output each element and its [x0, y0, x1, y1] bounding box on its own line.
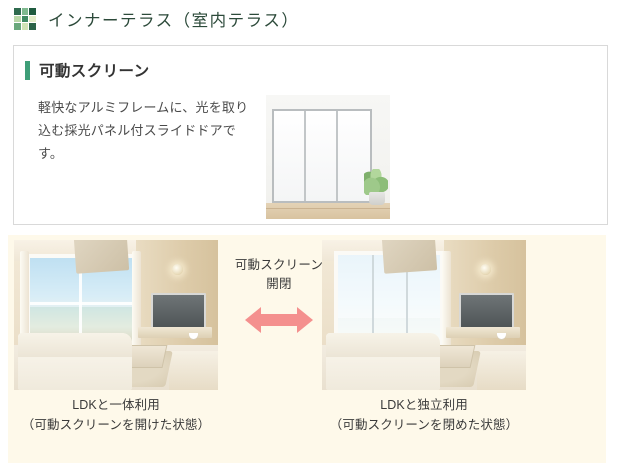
double-arrow-horizontal-icon	[243, 303, 315, 337]
photo-plant-pot	[369, 192, 385, 205]
room-image-closed	[322, 240, 526, 390]
center-label: 可動スクリーン 開閉	[220, 256, 338, 295]
room-tv	[459, 293, 514, 329]
room-illustration-open	[14, 240, 218, 390]
caption-closed: LDKと独立利用 （可動スクリーンを閉めた状態）	[296, 395, 552, 435]
room-sideboard	[477, 351, 526, 390]
room-cushion	[74, 240, 129, 273]
caption-closed-line2: （可動スクリーンを閉めた状態）	[296, 415, 552, 435]
room-sofa-back	[326, 333, 440, 357]
photo-screen-frame	[272, 109, 372, 203]
room-tv-stand	[446, 327, 519, 338]
panel-heading: 可動スクリーン	[25, 59, 607, 81]
room-window-mullion	[30, 302, 132, 305]
room-illustration-closed	[322, 240, 526, 390]
room-sofa	[18, 333, 132, 390]
room-image-open	[14, 240, 218, 390]
panel-heading-label: 可動スクリーン	[39, 59, 150, 81]
room-sideboard	[169, 351, 218, 390]
arrow-container	[226, 303, 332, 337]
page-title: インナーテラス（室内テラス）	[48, 7, 299, 31]
caption-open-line2: （可動スクリーンを開けた状態）	[0, 415, 244, 435]
feature-panel: 可動スクリーン 軽快なアルミフレームに、光を取り込む採光パネル付スライドドアです…	[13, 45, 608, 225]
room-tv-stand	[138, 327, 211, 338]
photo-floor	[266, 203, 390, 219]
grid-squares-icon	[14, 8, 36, 30]
product-photo	[266, 95, 390, 219]
center-label-line2: 開閉	[220, 275, 338, 294]
page-header: インナーテラス（室内テラス）	[0, 0, 640, 38]
photo-screen-panel	[306, 111, 338, 201]
panel-description: 軽快なアルミフレームに、光を取り込む採光パネル付スライドドアです。	[38, 97, 260, 165]
caption-closed-line1: LDKと独立利用	[296, 395, 552, 415]
accent-bar-icon	[25, 61, 30, 80]
room-cushion	[382, 240, 437, 273]
room-sofa-back	[18, 333, 132, 357]
caption-open-line1: LDKと一体利用	[0, 395, 244, 415]
comparison-band: 可動スクリーン 開閉 LDKと一体利用 （可動スクリーンを開けた状態） LDKと…	[8, 235, 606, 463]
photo-screen-panel	[274, 111, 306, 201]
room-sofa	[326, 333, 440, 390]
caption-open: LDKと一体利用 （可動スクリーンを開けた状態）	[0, 395, 244, 435]
room-tv	[151, 293, 206, 329]
center-label-line1: 可動スクリーン	[220, 256, 338, 275]
